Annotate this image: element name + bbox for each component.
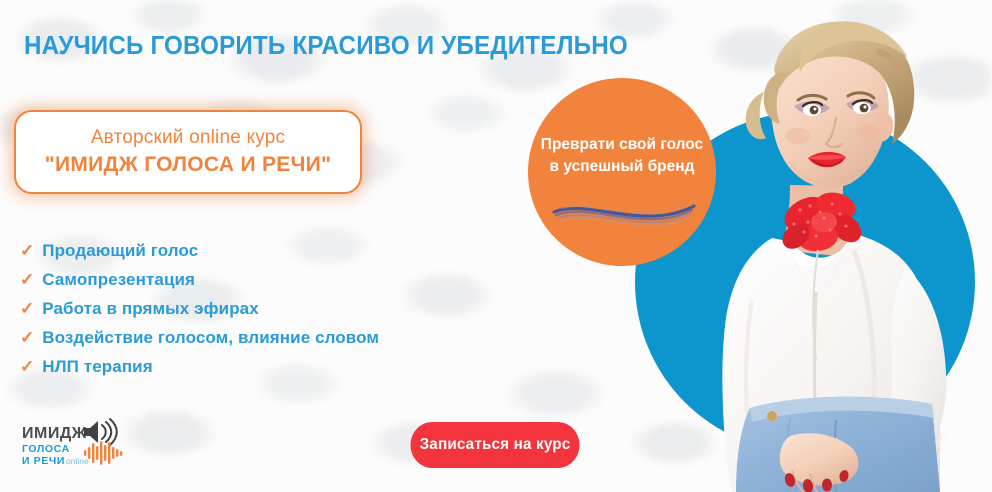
page-title: НАУЧИСЬ ГОВОРИТЬ КРАСИВО И УБЕДИТЕЛЬНО — [24, 30, 628, 61]
logo-brand-text: ИМИДЖ — [22, 425, 87, 442]
benefits-list: ✓ Продающий голос ✓ Самопрезентация ✓ Ра… — [20, 241, 379, 386]
benefit-label: НЛП терапия — [42, 357, 153, 377]
list-item: ✓ Самопрезентация — [20, 270, 379, 290]
benefit-label: Самопрезентация — [42, 270, 195, 290]
swoosh-icon — [548, 198, 698, 232]
promo-banner: НАУЧИСЬ ГОВОРИТЬ КРАСИВО И УБЕДИТЕЛЬНО А… — [0, 0, 992, 492]
presenter-photo — [640, 0, 992, 492]
check-icon: ✓ — [20, 358, 34, 375]
logo[interactable]: ИМИДЖ ГОЛОСА И РЕЧИ online — [22, 418, 154, 474]
logo-sub3-text: online — [66, 456, 89, 466]
badge-line-2: в успешный бренд — [550, 156, 695, 178]
waveform-icon — [84, 441, 122, 465]
course-subtitle: Авторский online курс — [91, 127, 285, 149]
check-icon: ✓ — [20, 300, 34, 317]
check-icon: ✓ — [20, 242, 34, 259]
benefit-label: Воздействие голосом, влияние словом — [42, 328, 379, 348]
list-item: ✓ НЛП терапия — [20, 357, 379, 377]
course-name: "ИМИДЖ ГОЛОСА И РЕЧИ" — [45, 153, 332, 177]
check-icon: ✓ — [20, 329, 34, 346]
logo-sub2-text: И РЕЧИ — [22, 455, 65, 467]
check-icon: ✓ — [20, 271, 34, 288]
logo-sub1-text: ГОЛОСА — [22, 443, 70, 455]
list-item: ✓ Воздействие голосом, влияние словом — [20, 328, 379, 348]
list-item: ✓ Работа в прямых эфирах — [20, 299, 379, 319]
list-item: ✓ Продающий голос — [20, 241, 379, 261]
badge-circle: Преврати свой голос в успешный бренд — [528, 78, 716, 266]
benefit-label: Продающий голос — [42, 241, 198, 261]
course-title-card: Авторский online курс "ИМИДЖ ГОЛОСА И РЕ… — [14, 110, 362, 194]
speaker-icon — [84, 419, 117, 445]
badge-line-1: Преврати свой голос — [541, 134, 703, 156]
enroll-button[interactable]: Записаться на курс — [410, 422, 579, 468]
benefit-label: Работа в прямых эфирах — [42, 299, 259, 319]
